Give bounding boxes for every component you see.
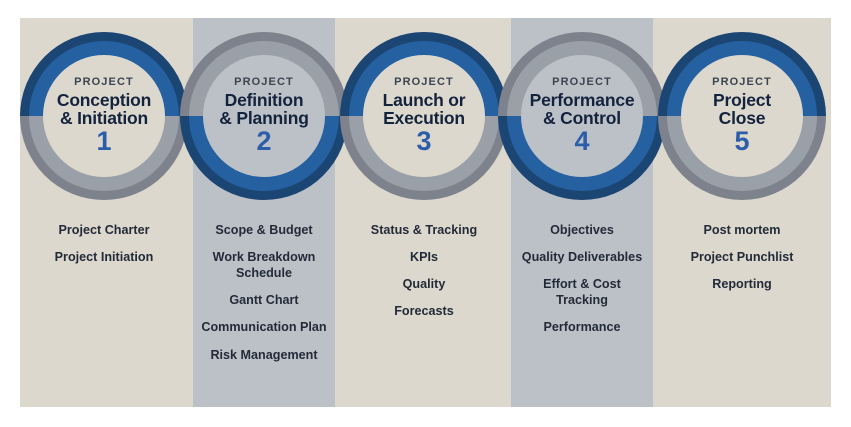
ring-center: PROJECTConception& Initiation1 bbox=[43, 55, 165, 177]
phase-number: 4 bbox=[574, 128, 589, 155]
phase-title: Launch orExecution bbox=[379, 91, 470, 127]
phase-title: Conception& Initiation bbox=[53, 91, 155, 127]
phase-kicker: PROJECT bbox=[394, 77, 454, 88]
phase-column-1[interactable]: PROJECTConception& Initiation1Project Ch… bbox=[33, 18, 175, 407]
deliverable-item[interactable]: Project Initiation bbox=[37, 249, 171, 265]
deliverable-item[interactable]: Work Breakdown Schedule bbox=[197, 249, 331, 281]
phase-ring-2[interactable]: PROJECTDefinition& Planning2 bbox=[180, 32, 348, 200]
phase-ring-4[interactable]: PROJECTPerformance& Control4 bbox=[498, 32, 666, 200]
phase-title-line-1: Conception bbox=[57, 91, 151, 109]
deliverable-item[interactable]: Post mortem bbox=[675, 222, 809, 238]
phase-title-line-2: & Initiation bbox=[57, 109, 151, 127]
deliverable-item[interactable]: Forecasts bbox=[357, 303, 491, 319]
phase-kicker: PROJECT bbox=[552, 77, 612, 88]
deliverable-item[interactable]: Scope & Budget bbox=[197, 222, 331, 238]
phase-kicker: PROJECT bbox=[712, 77, 772, 88]
deliverable-item[interactable]: Quality bbox=[357, 276, 491, 292]
project-phases-diagram: PROJECTConception& Initiation1Project Ch… bbox=[0, 0, 851, 427]
phase-column-3[interactable]: PROJECTLaunch orExecution3Status & Track… bbox=[353, 18, 495, 407]
ring-center: PROJECTPerformance& Control4 bbox=[521, 55, 643, 177]
phase-deliverables-list: Status & TrackingKPIsQualityForecasts bbox=[357, 222, 491, 330]
ring-center: PROJECTProjectClose5 bbox=[681, 55, 803, 177]
deliverable-item[interactable]: Gantt Chart bbox=[197, 292, 331, 308]
phase-title-line-2: Execution bbox=[383, 109, 466, 127]
phase-ring-1[interactable]: PROJECTConception& Initiation1 bbox=[20, 32, 188, 200]
phase-deliverables-list: ObjectivesQuality DeliverablesEffort & C… bbox=[515, 222, 649, 347]
phase-title-line-2: Close bbox=[713, 109, 771, 127]
deliverable-item[interactable]: Objectives bbox=[515, 222, 649, 238]
deliverable-item[interactable]: Communication Plan bbox=[197, 319, 331, 335]
phase-title-line-1: Performance bbox=[530, 91, 635, 109]
deliverable-item[interactable]: Project Charter bbox=[37, 222, 171, 238]
phase-title-line-1: Definition bbox=[219, 91, 308, 109]
phase-title-line-2: & Planning bbox=[219, 109, 308, 127]
phase-title: Definition& Planning bbox=[215, 91, 312, 127]
ring-center: PROJECTDefinition& Planning2 bbox=[203, 55, 325, 177]
phase-column-4[interactable]: PROJECTPerformance& Control4ObjectivesQu… bbox=[511, 18, 653, 407]
phase-number: 5 bbox=[734, 128, 749, 155]
phase-title-line-1: Launch or bbox=[383, 91, 466, 109]
deliverable-item[interactable]: Reporting bbox=[675, 276, 809, 292]
phase-deliverables-list: Project CharterProject Initiation bbox=[37, 222, 171, 276]
deliverable-item[interactable]: Risk Management bbox=[197, 347, 331, 363]
ring-center: PROJECTLaunch orExecution3 bbox=[363, 55, 485, 177]
phase-kicker: PROJECT bbox=[74, 77, 134, 88]
phase-column-5[interactable]: PROJECTProjectClose5Post mortemProject P… bbox=[671, 18, 813, 407]
phase-number: 1 bbox=[96, 128, 111, 155]
phase-title-line-1: Project bbox=[713, 91, 771, 109]
phase-title: Performance& Control bbox=[526, 91, 639, 127]
deliverable-item[interactable]: Performance bbox=[515, 319, 649, 335]
deliverable-item[interactable]: Project Punchlist bbox=[675, 249, 809, 265]
deliverable-item[interactable]: Quality Deliverables bbox=[515, 249, 649, 265]
phase-number: 2 bbox=[256, 128, 271, 155]
phase-ring-3[interactable]: PROJECTLaunch orExecution3 bbox=[340, 32, 508, 200]
phase-deliverables-list: Post mortemProject PunchlistReporting bbox=[675, 222, 809, 303]
phase-title-line-2: & Control bbox=[530, 109, 635, 127]
phase-deliverables-list: Scope & BudgetWork Breakdown ScheduleGan… bbox=[197, 222, 331, 374]
phase-title: ProjectClose bbox=[709, 91, 775, 127]
phase-ring-5[interactable]: PROJECTProjectClose5 bbox=[658, 32, 826, 200]
phase-column-2[interactable]: PROJECTDefinition& Planning2Scope & Budg… bbox=[193, 18, 335, 407]
phase-number: 3 bbox=[416, 128, 431, 155]
deliverable-item[interactable]: Status & Tracking bbox=[357, 222, 491, 238]
deliverable-item[interactable]: Effort & Cost Tracking bbox=[515, 276, 649, 308]
deliverable-item[interactable]: KPIs bbox=[357, 249, 491, 265]
phase-kicker: PROJECT bbox=[234, 77, 294, 88]
